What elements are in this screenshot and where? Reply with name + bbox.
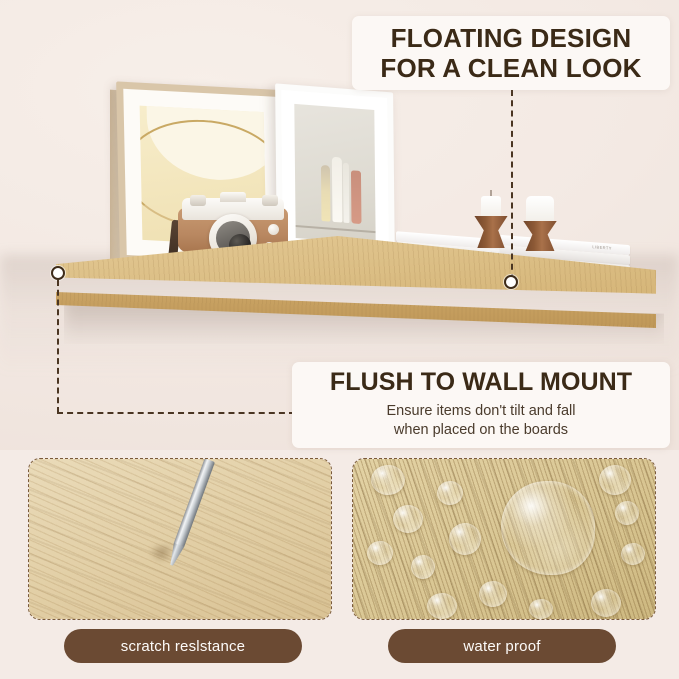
top-callout-anchor-dot [504, 275, 518, 289]
camera-dial [190, 195, 206, 206]
water-droplet [621, 543, 645, 565]
water-droplet [411, 555, 435, 579]
scratch-resistance-label: scratch reslstance [121, 638, 245, 655]
water-droplet [615, 501, 639, 525]
art-bottle [321, 165, 331, 222]
water-droplet [501, 481, 595, 575]
frame-mat-2 [281, 90, 389, 258]
screwdriver-tip [166, 543, 184, 567]
flush-mount-callout-card: FLUSH TO WALL MOUNT Ensure items don't t… [292, 362, 670, 448]
bottom-callout-connector-vertical [57, 280, 59, 413]
water-droplet [437, 481, 463, 505]
bottom-callout-connector-horizontal [57, 412, 295, 414]
water-droplet [427, 593, 457, 619]
bottom-callout-anchor-dot [51, 266, 65, 280]
scratch-resistance-label-pill: scratch reslstance [64, 629, 302, 663]
water-proof-label-pill: water proof [388, 629, 616, 663]
water-droplet [367, 541, 393, 565]
product-feature-graphic: gsb vaj instinct LIBERTY nark [0, 0, 679, 679]
candle [481, 196, 501, 218]
floating-design-headline: FLOATING DESIGN FOR A CLEAN LOOK [380, 23, 641, 84]
candle [526, 196, 554, 222]
floating-wood-shelf [56, 236, 656, 336]
art-bottle [351, 170, 362, 224]
water-proof-panel [352, 458, 656, 620]
flush-mount-headline: FLUSH TO WALL MOUNT [330, 369, 632, 397]
water-droplet [529, 599, 553, 619]
water-droplet [449, 523, 481, 555]
water-droplet [599, 465, 631, 495]
art-bottle [332, 156, 343, 223]
water-droplet [479, 581, 507, 607]
floating-design-callout-card: FLOATING DESIGN FOR A CLEAN LOOK [352, 16, 670, 90]
camera-button [268, 224, 279, 235]
water-droplet [591, 589, 621, 617]
camera-viewfinder [220, 192, 246, 202]
water-droplet [371, 465, 405, 495]
art-bottle [343, 163, 350, 224]
flush-mount-subcopy: Ensure items don't tilt and fall when pl… [387, 402, 576, 441]
camera-dial [262, 195, 278, 206]
still-life-artwork [294, 104, 375, 244]
top-callout-connector-line [511, 90, 513, 280]
art-table-line [296, 225, 376, 233]
water-droplet [393, 505, 423, 533]
scratch-resistance-panel [28, 458, 332, 620]
water-proof-label: water proof [463, 638, 540, 655]
